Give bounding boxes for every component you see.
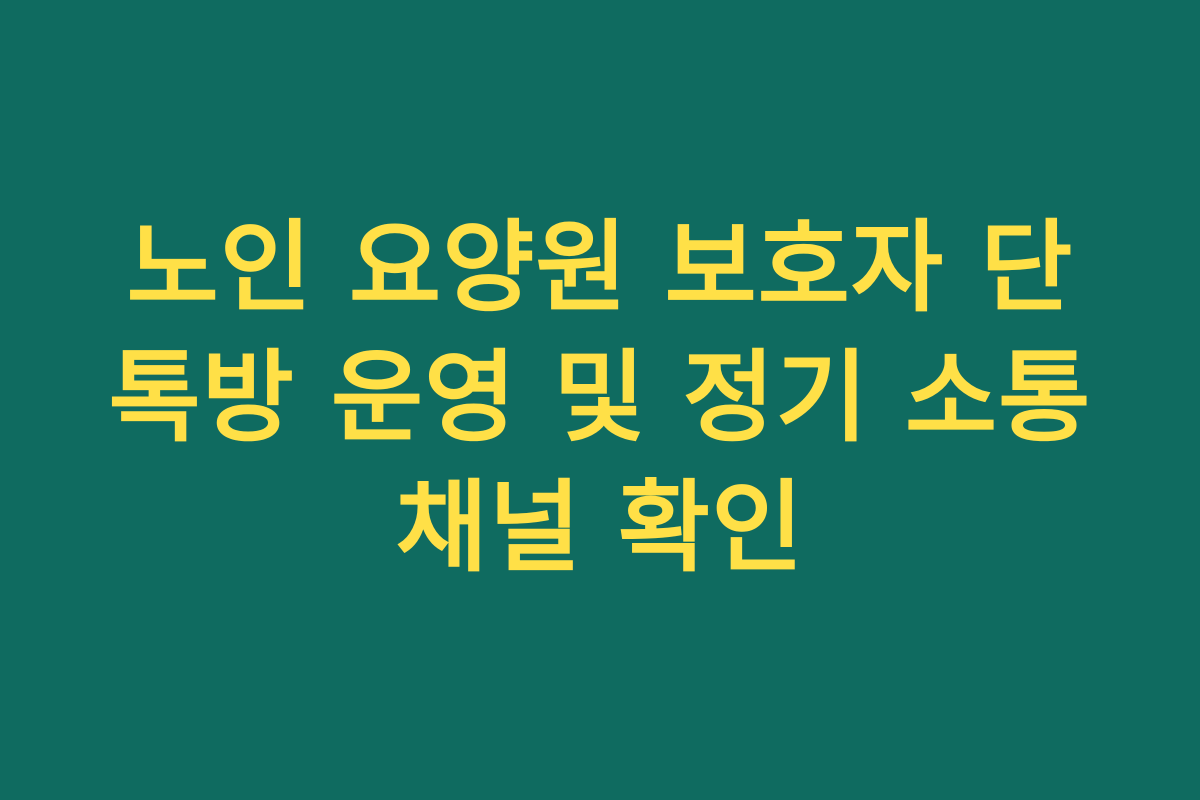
page-title-line-1: 노인 요양원 보호자 단 (100, 203, 1100, 333)
page-title-line-3: 채널 확인 (100, 463, 1100, 593)
banner-canvas: 노인 요양원 보호자 단 톡방 운영 및 정기 소통 채널 확인 (0, 0, 1200, 800)
page-title-line-2: 톡방 운영 및 정기 소통 (100, 333, 1100, 463)
page-title: 노인 요양원 보호자 단 톡방 운영 및 정기 소통 채널 확인 (100, 203, 1100, 597)
